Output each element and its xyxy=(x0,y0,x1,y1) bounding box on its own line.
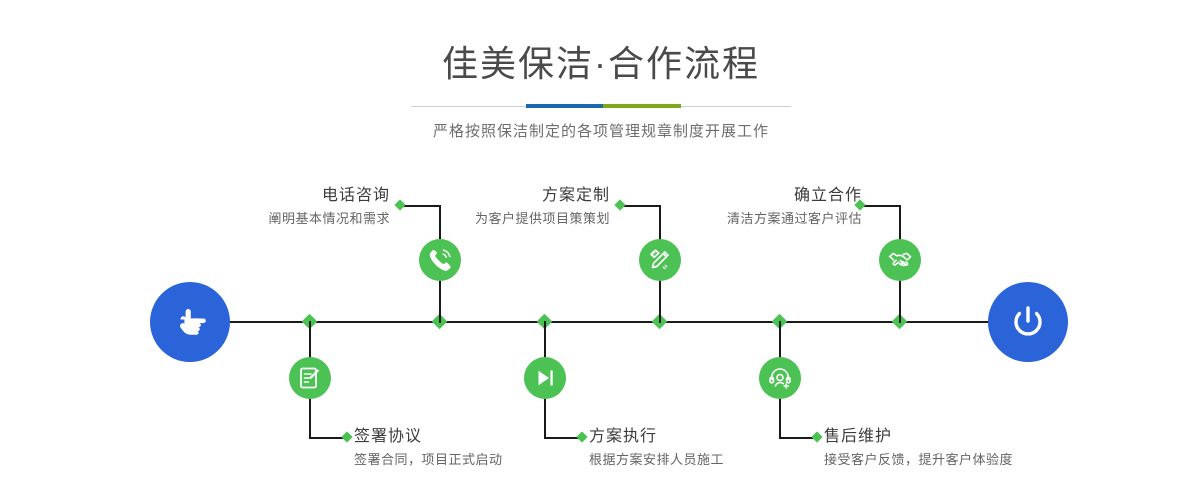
pointing-hand-icon xyxy=(169,301,211,343)
power-icon xyxy=(1006,300,1050,344)
timeline-end-node[interactable] xyxy=(988,282,1068,362)
step-4-tip-marker xyxy=(576,431,587,442)
step-3-tip-marker xyxy=(614,199,625,210)
step-2-tip-marker xyxy=(341,431,352,442)
process-timeline: 电话咨询 阐明基本情况和需求 签署协议 签署合同，项目正式启动 xyxy=(0,0,1202,502)
step-1-label: 电话咨询 xyxy=(268,186,390,206)
handshake-icon xyxy=(887,247,913,273)
step-3-icon-badge[interactable] xyxy=(639,239,681,281)
step-5-icon-badge[interactable] xyxy=(879,239,921,281)
step-4-desc: 根据方案安排人员施工 xyxy=(589,450,724,469)
document-edit-icon xyxy=(297,365,323,391)
phone-call-icon xyxy=(427,247,453,273)
step-6-desc: 接受客户反馈，提升客户体验度 xyxy=(824,450,1013,469)
pencil-ruler-icon xyxy=(647,247,673,273)
step-2-desc: 签署合同，项目正式启动 xyxy=(354,450,503,469)
step-6-tip-marker xyxy=(811,431,822,442)
flowchart-canvas: 佳美保洁·合作流程 严格按照保洁制定的各项管理规章制度开展工作 xyxy=(0,0,1202,502)
step-1-tip-marker xyxy=(394,199,405,210)
step-1-label-block: 电话咨询 阐明基本情况和需求 xyxy=(268,186,390,228)
step-1-icon-badge[interactable] xyxy=(419,239,461,281)
step-3-desc: 为客户提供项目策策划 xyxy=(475,209,610,228)
step-1-connector-horizontal xyxy=(401,205,440,207)
headset-support-icon xyxy=(767,365,793,391)
step-3-connector-horizontal xyxy=(621,205,660,207)
step-6-icon-badge[interactable] xyxy=(759,357,801,399)
step-6-label-block: 售后维护 接受客户反馈，提升客户体验度 xyxy=(824,427,1013,469)
step-3-label-block: 方案定制 为客户提供项目策策划 xyxy=(475,186,610,228)
step-5-label-block: 确立合作 清洁方案通过客户评估 xyxy=(727,186,862,228)
timeline-start-node[interactable] xyxy=(150,282,230,362)
step-1-desc: 阐明基本情况和需求 xyxy=(268,209,390,228)
play-next-icon xyxy=(532,365,558,391)
step-2-label-block: 签署协议 签署合同，项目正式启动 xyxy=(354,427,503,469)
step-2-label: 签署协议 xyxy=(354,427,503,447)
step-6-label: 售后维护 xyxy=(824,427,1013,447)
step-2-icon-badge[interactable] xyxy=(289,357,331,399)
step-5-label: 确立合作 xyxy=(727,186,862,206)
step-3-label: 方案定制 xyxy=(475,186,610,206)
step-4-label: 方案执行 xyxy=(589,427,724,447)
step-5-connector-horizontal xyxy=(861,205,900,207)
step-5-desc: 清洁方案通过客户评估 xyxy=(727,209,862,228)
step-4-icon-badge[interactable] xyxy=(524,357,566,399)
step-4-label-block: 方案执行 根据方案安排人员施工 xyxy=(589,427,724,469)
